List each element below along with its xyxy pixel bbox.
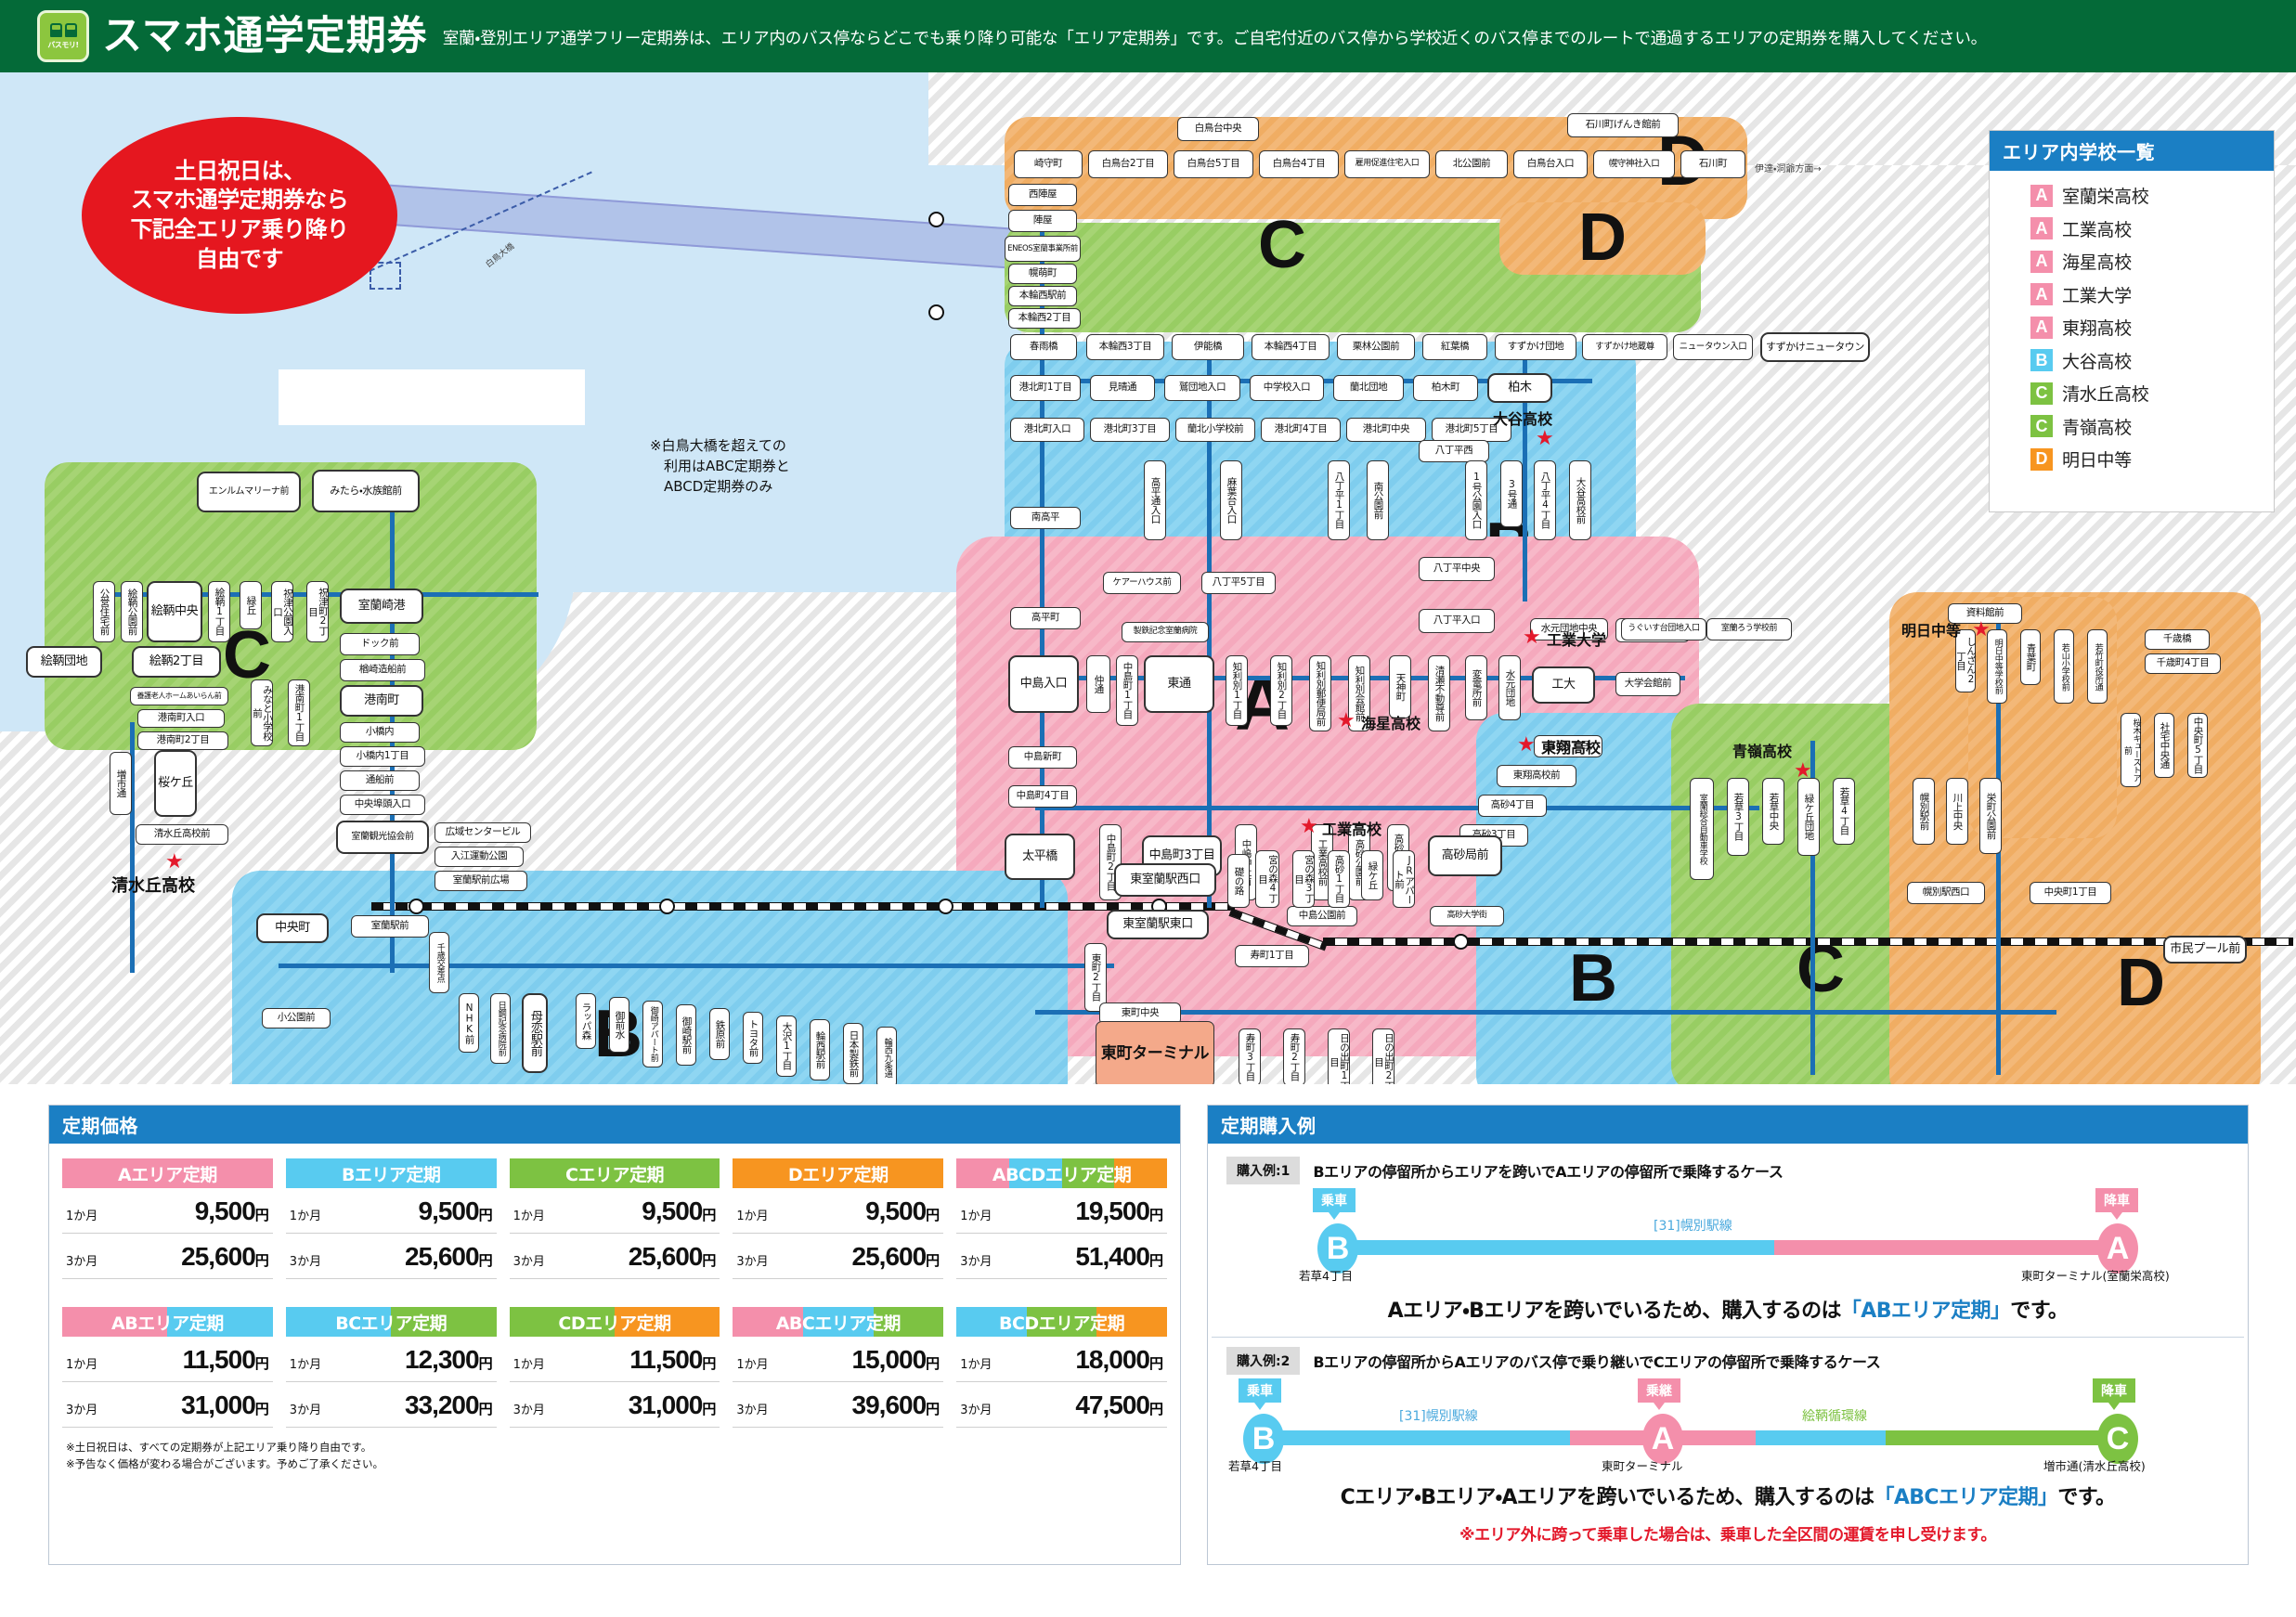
stop-mr-7[interactable]: 社宅中央通 (2154, 713, 2174, 778)
stop-bs-24[interactable]: 日本製鉄前 (843, 1023, 863, 1084)
stop-b3-4[interactable]: 高平町 (1010, 607, 1081, 629)
stop-b2-6[interactable]: 1号公園入口 (1465, 460, 1487, 540)
stop-c-4[interactable]: 栗林公園前 (1337, 334, 1415, 360)
stop-bs-25[interactable]: 輪西九条通 (876, 1027, 897, 1084)
stop-am-17[interactable]: 中島公園前 (1287, 906, 1357, 926)
star-icon-shimizugaoka: ★ (165, 852, 184, 873)
stop-a3-8[interactable]: 高砂1丁目 (1328, 850, 1350, 908)
price-amount: 9,500 (419, 1197, 479, 1225)
stop-b2-3[interactable]: 八丁平1丁目 (1328, 460, 1350, 540)
stop-am-18[interactable]: 高砂大学街 (1430, 906, 1504, 926)
stop-mr-12[interactable]: 中央町1丁目 (2030, 882, 2111, 904)
school-list-item-3[interactable]: A 工業大学 (2030, 282, 2274, 307)
price-tag-abcd: ABCDエリア定期 (956, 1158, 1167, 1188)
stop-c-7[interactable]: すずかけ地蔵尊 (1582, 334, 1667, 360)
term-label: 1か月 (66, 1206, 97, 1223)
school-list-item-0[interactable]: A 室蘭栄高校 (2030, 183, 2274, 208)
stop-mr-15[interactable]: 若草3丁目 (1727, 778, 1749, 856)
stop-a1-9[interactable]: 清瀬不動尊前 (1428, 655, 1450, 731)
price-card-abc: ABCエリア定期 1か月 15,000円 3か月 39,600円 (733, 1307, 943, 1428)
price-tag-label-abc: ABCエリア定期 (776, 1310, 901, 1335)
stop-cw-29[interactable]: 入江運動公園 (435, 847, 524, 867)
term-label: 1か月 (290, 1206, 321, 1223)
stop-cw-3[interactable]: 絵鞆公園前 (121, 581, 143, 642)
stop-a1-13[interactable]: 大学会館前 (1615, 672, 1680, 696)
stop-c-1[interactable]: 本輪西3丁目 (1086, 334, 1164, 360)
stop-d-6[interactable]: 白鳥台入口 (1513, 150, 1588, 178)
stop-bs-9[interactable]: 母恋駅前 (522, 993, 548, 1073)
header-description: 室蘭・登別エリア通学フリー定期券は、エリア内のバス停ならどこでも乗り降り可能な「… (443, 24, 1987, 48)
stop-mr-20[interactable]: 川上中央 (1946, 778, 1968, 845)
price-tag-ab: ABエリア定期 (62, 1307, 273, 1337)
star-icon-kogyodai: ★ (1523, 627, 1541, 648)
stop-a3-12[interactable]: 寿町3丁目 (1239, 1028, 1261, 1084)
rail-station-dot-4 (659, 899, 675, 914)
example-1-title: Bエリアの停留所からエリアを跨いでAエリアの停留所で乗降するケース (1313, 1159, 1783, 1182)
price-amount: 31,000 (181, 1391, 255, 1419)
price-tag-c: Cエリア定期 (510, 1158, 720, 1188)
stop-cw-11[interactable]: 楢崎造船前 (340, 659, 425, 681)
example-2-diagram: B A C 乗車 乗継 降車 [31]幌別駅線 絵鞆循環線 若草4丁目 東町ター… (1226, 1378, 2229, 1479)
example-2-concl-pre: Cエリア・Bエリア・Aエリアを跨いでいるため、購入するのは (1341, 1486, 1874, 1509)
stop-d-7[interactable]: 幌守神社入口 (1593, 150, 1675, 178)
stop-b2-4[interactable]: 南公園前 (1367, 460, 1389, 540)
stop-cw-13[interactable]: 小橋内 (340, 722, 420, 743)
stop-b3-1[interactable]: 八丁平5丁目 (1201, 572, 1276, 594)
stop-bs-3[interactable]: 小公園前 (262, 1008, 331, 1028)
stop-cl-1[interactable]: 陣屋 (1008, 210, 1077, 232)
stop-a3-2[interactable]: 東室蘭駅東口 (1107, 910, 1209, 939)
school-name-5: 大谷高校 (2062, 348, 2132, 373)
rail-station-dot-5 (409, 899, 424, 914)
stop-bs-18[interactable]: 御崎アパート前 (642, 1001, 663, 1067)
school-name-7: 青嶺高校 (2062, 414, 2132, 439)
stop-a1-2[interactable]: 中島町1丁目 (1116, 655, 1138, 726)
stop-a3-5[interactable]: 礎の路 (1227, 854, 1250, 908)
stop-bs-0[interactable]: 中央町 (256, 913, 329, 943)
stop-cl-2[interactable]: ENEOS室蘭事業所前 (1005, 236, 1081, 262)
stop-d-3[interactable]: 白鳥台4丁目 (1259, 150, 1339, 178)
stop-d-4[interactable]: 雇用促進住宅入口 (1344, 150, 1430, 178)
yen-label: 円 (926, 1252, 940, 1269)
price-tag-label-d: Dエリア定期 (788, 1161, 889, 1186)
stop-b2-7[interactable]: 3号通 (1500, 460, 1523, 527)
example-1: 購入例:1 Bエリアの停留所からエリアを跨いでAエリアの停留所で乗降するケース … (1208, 1144, 2248, 1324)
school-list-item-7[interactable]: C 青嶺高校 (2030, 414, 2274, 439)
stop-cw-26[interactable]: 桜ケ丘 (154, 750, 197, 817)
stop-cw-0[interactable]: エンルムマリーナ前 (197, 472, 301, 512)
stop-mr-3[interactable]: 青葉町 (2020, 629, 2041, 685)
zone-badge-a: A (2030, 283, 2053, 305)
star-icon-tosho: ★ (1517, 735, 1536, 756)
stop-bs-2[interactable]: 千歳交差点 (429, 932, 449, 993)
route-segment-b2-2 (1756, 1430, 1886, 1445)
stop-cw-22[interactable]: 港南町2丁目 (137, 731, 228, 750)
stop-am-9[interactable]: 太平橋 (1005, 834, 1075, 880)
school-list-item-1[interactable]: A 工業高校 (2030, 216, 2274, 241)
price-card-bcd: BCDエリア定期 1か月 18,000円 3か月 47,500円 (956, 1307, 1167, 1428)
price-1month-c: 1か月 9,500円 (510, 1188, 720, 1234)
price-tag-label-abcd: ABCDエリア定期 (992, 1161, 1131, 1186)
stop-a3-11[interactable]: 寿町1丁目 (1235, 945, 1309, 967)
stop-c-3[interactable]: 本輪西4丁目 (1252, 334, 1330, 360)
stop-mr-19[interactable]: 幌別駅前 (1913, 778, 1935, 845)
example-1-concl-post: です。 (2010, 1300, 2068, 1323)
stop-bs-23[interactable]: 輪西駅前 (810, 1019, 830, 1080)
term-label: 3か月 (66, 1400, 97, 1417)
stop-bs-22[interactable]: 大沢1丁目 (776, 1015, 797, 1077)
stop-a1-1[interactable]: 仲通 (1086, 655, 1110, 713)
price-3month-cd: 3か月 31,000円 (510, 1382, 720, 1428)
stop-d-8[interactable]: 石川町 (1680, 150, 1745, 178)
stop-bs-17[interactable]: 御前水 (609, 997, 629, 1053)
stop-c2-1[interactable]: 見晴通 (1090, 375, 1155, 401)
stop-a3-3[interactable]: 東町2丁目 (1084, 943, 1107, 1012)
stop-a1-8[interactable]: 天神町 (1389, 655, 1411, 718)
school-marker-kogyo: 工業高校 (1322, 817, 1381, 839)
school-name-4: 東翔高校 (2062, 315, 2132, 340)
stop-b2-9[interactable]: 大谷高校前 (1569, 460, 1591, 540)
stop-b3-2[interactable]: 八丁平中央 (1419, 557, 1495, 581)
stop-c2-0[interactable]: 港北町1丁目 (1010, 375, 1081, 401)
price-tag-label-ab: ABエリア定期 (111, 1310, 224, 1335)
example-2-concl-post: です。 (2057, 1486, 2115, 1509)
price-card-abcd: ABCDエリア定期 1か月 19,500円 3か月 51,400円 (956, 1158, 1167, 1279)
stop-cw-19[interactable]: 絵鞆2丁目 (132, 646, 221, 678)
area-map: 白鳥大橋 土日祝日は、 スマホ通学定期券なら 下記全エリア乗り降り 自由です ※… (0, 72, 2296, 1084)
price-amount: 31,000 (629, 1391, 703, 1419)
zone-letter-d-east: D (2117, 950, 2165, 1016)
stop-am-3[interactable]: 室蘭ろう学校前 (1706, 618, 1792, 640)
price-amount: 25,600 (181, 1242, 255, 1271)
example-panel-title: 定期購入例 (1208, 1106, 2248, 1144)
stop-b3-0[interactable]: ケアーハウス前 (1103, 572, 1181, 594)
price-amount: 25,600 (405, 1242, 479, 1271)
route-label-2a: [31]幌別駅線 (1399, 1406, 1478, 1425)
stop-cw-9[interactable]: 室蘭崎港 (340, 589, 423, 624)
price-3month-bc: 3か月 33,200円 (286, 1382, 497, 1428)
stop-a1-4[interactable]: 知利別1丁目 (1226, 655, 1248, 726)
stop-a1-3[interactable]: 東通 (1144, 655, 1214, 713)
term-label: 1か月 (513, 1206, 545, 1223)
stop-d-0[interactable]: 崎守町 (1014, 150, 1083, 178)
yen-label: 円 (926, 1401, 940, 1417)
school-list: A 室蘭栄高校 A 工業高校 A 海星高校 A 工業大学 A 東翔高校 (1990, 171, 2274, 489)
price-card-ab: ABエリア定期 1か月 11,500円 3か月 31,000円 (62, 1307, 273, 1428)
stop-c-0[interactable]: 春雨橋 (1010, 334, 1077, 360)
stop-cw-6[interactable]: 緑丘 (240, 581, 262, 629)
mid-stop-2: 東町ターミナル (1602, 1456, 1683, 1474)
example-1-concl-pre: Aエリア・Bエリアを跨いでいるため、購入するのは (1388, 1300, 1841, 1323)
stop-cw-25[interactable]: 増市通 (110, 752, 132, 815)
stop-d-5[interactable]: 北公園前 (1435, 150, 1508, 178)
stop-bs-16[interactable]: ラッパ森 (576, 993, 596, 1049)
stop-am-5[interactable]: 東翔高校前 (1497, 765, 1576, 787)
stop-cl-3[interactable]: 幌萌町 (1008, 264, 1077, 284)
stop-mr-9[interactable]: 千歳橋 (2145, 629, 2210, 650)
yen-label: 円 (255, 1252, 269, 1269)
price-tag-label-a: Aエリア定期 (118, 1161, 217, 1186)
stop-mr-8[interactable]: 中央町5丁目 (2187, 713, 2208, 778)
stop-mr-18[interactable]: 若草4丁目 (1833, 778, 1855, 845)
school-name-1: 工業高校 (2062, 216, 2132, 241)
term-label: 1か月 (960, 1206, 992, 1223)
stop-cw-7[interactable]: 祝津公園入口 (271, 581, 293, 642)
stop-a3-7[interactable]: 宮の森3丁目 (1292, 850, 1315, 908)
stop-d2-1[interactable]: すずかけニュータウン (1760, 332, 1870, 362)
stop-d-1[interactable]: 白鳥台2丁目 (1088, 150, 1168, 178)
school-marker-seirei: 青嶺高校 (1732, 739, 1792, 761)
term-label: 3か月 (66, 1251, 97, 1269)
stop-cw-30[interactable]: 室蘭駅前広場 (435, 871, 527, 891)
stop-b1-0[interactable]: 港北町入口 (1010, 418, 1084, 442)
stop-a3-10[interactable]: JRアパート前 (1393, 850, 1415, 908)
stop-b2-2[interactable]: 麻葉台入口 (1220, 460, 1242, 540)
school-name-3: 工業大学 (2062, 282, 2132, 307)
stop-a3-15[interactable]: 日の出町2丁目 (1372, 1028, 1394, 1084)
stop-cw-12[interactable]: 港南町 (340, 685, 423, 717)
stop-mr-13[interactable]: 市民プール前 (2163, 936, 2247, 964)
stop-mr-6[interactable]: 桜木キューストア前 (2121, 713, 2141, 787)
stop-cw-8[interactable]: 祝津町2丁目 (306, 581, 329, 642)
stop-mr-4[interactable]: 若山小学校前 (2054, 629, 2074, 704)
price-tag-label-cd: CDエリア定期 (558, 1310, 670, 1335)
stop-a1-11[interactable]: 水元団地 (1498, 655, 1521, 720)
price-card-a: Aエリア定期 1か月 9,500円 3か月 25,600円 (62, 1158, 273, 1279)
transfer-tip-2: 乗継 (1638, 1378, 1680, 1403)
stop-cw-24[interactable]: 港南町1丁目 (288, 679, 310, 746)
stop-cw-1[interactable]: みたら・水族館前 (312, 470, 420, 512)
price-note-1: ※予告なく価格が変わる場合がございます。予めご了承ください。 (66, 1455, 1163, 1472)
site-header: バスモリ! スマホ通学定期券 室蘭・登別エリア通学フリー定期券は、エリア内のバス… (0, 0, 2296, 72)
price-tag-a: Aエリア定期 (62, 1158, 273, 1188)
term-label: 3か月 (513, 1251, 545, 1269)
stop-cw-20[interactable]: 養護老人ホームあいらん前 (130, 687, 228, 705)
stop-b2-5[interactable]: 八丁平西 (1419, 440, 1489, 462)
stop-d-branch-1[interactable]: 石川町げんき館前 (1567, 113, 1679, 137)
zone-badge-a: A (2030, 217, 2053, 239)
stop-mr-16[interactable]: 若草中央 (1762, 778, 1784, 845)
stop-a3-9[interactable]: 緑ケ丘 (1361, 850, 1383, 900)
term-label: 3か月 (960, 1251, 992, 1269)
stop-b1-1[interactable]: 港北町3丁目 (1090, 418, 1170, 442)
price-3month-abc: 3か月 39,600円 (733, 1382, 943, 1428)
example-panel: 定期購入例 購入例:1 Bエリアの停留所からエリアを跨いでAエリアの停留所で乗降… (1207, 1105, 2249, 1565)
zone-badge-a: A (2030, 317, 2053, 339)
stop-am-6[interactable]: 高砂4丁目 (1478, 795, 1547, 817)
stop-mr-11[interactable]: 幌別駅西口 (1907, 882, 1985, 904)
stop-cw-14[interactable]: 小橋内1丁目 (340, 746, 425, 767)
term-label: 3か月 (290, 1251, 321, 1269)
board-tip-2: 乗車 (1239, 1378, 1281, 1403)
yen-label: 円 (1149, 1355, 1163, 1372)
stop-cl-0[interactable]: 西陣屋 (1008, 184, 1077, 206)
price-tag-bcd: BCDエリア定期 (956, 1307, 1167, 1337)
stop-a3-13[interactable]: 寿町2丁目 (1283, 1028, 1305, 1084)
school-name-8: 明日中等 (2062, 446, 2132, 472)
stop-c-6[interactable]: すずかけ団地 (1495, 334, 1576, 360)
stop-cw-28[interactable]: 広域センタービル (435, 822, 531, 843)
bridge-usage-note: ※白鳥大橋を超えての 利用はABC定期券と ABCD定期券のみ (650, 436, 790, 497)
stop-am-2[interactable]: うぐいす台団地入口 (1621, 618, 1706, 640)
stop-cw-23[interactable]: みなと小学校前 (251, 679, 273, 746)
stop-cw-5[interactable]: 絵鞆1丁目 (208, 581, 230, 642)
zone-badge-a: A (2030, 185, 2053, 207)
star-icon-kaisei: ★ (1337, 711, 1356, 731)
stop-cw-27[interactable]: 清水丘高校前 (136, 824, 228, 845)
end-stop-2: 増市通(清水丘高校) (2043, 1456, 2146, 1474)
stop-cl-4[interactable]: 本輪西駅前 (1008, 286, 1077, 306)
price-amount: 47,500 (1075, 1391, 1149, 1419)
yen-label: 円 (255, 1355, 269, 1372)
stop-c2-2[interactable]: 鷲団地入口 (1164, 375, 1240, 401)
stop-am-8[interactable]: 中島新町 (1008, 746, 1077, 769)
stop-higashimachi-terminal[interactable]: 東町ターミナル (1096, 1021, 1214, 1084)
stop-cl-5[interactable]: 本輪西2丁目 (1008, 308, 1081, 329)
stop-a3-1[interactable]: 東室蘭駅西口 (1114, 863, 1216, 897)
stop-a1-12[interactable]: 工大 (1532, 666, 1595, 704)
zone-badge-d: D (2030, 448, 2053, 471)
stop-cw-16[interactable]: 中央埠頭入口 (340, 795, 425, 815)
price-amount: 51,400 (1075, 1242, 1149, 1271)
stop-cw-21[interactable]: 港南町入口 (137, 709, 225, 728)
example-2-conclusion: Cエリア・Bエリア・Aエリアを跨いでいるため、購入するのは「ABCエリア定期」で… (1226, 1481, 2229, 1510)
rail-station-dot-1 (938, 899, 953, 914)
stop-bs-19[interactable]: 御崎駅前 (676, 1004, 696, 1066)
price-card-bc: BCエリア定期 1か月 12,300円 3か月 33,200円 (286, 1307, 497, 1428)
stop-a3-14[interactable]: 日の出町1丁目 (1328, 1028, 1350, 1084)
bus-route-cross-3 (1035, 806, 1759, 810)
route-segment-b-2 (1264, 1430, 1570, 1445)
price-tag-label-bc: BCエリア定期 (335, 1310, 447, 1335)
zone-badge-b: B (2030, 349, 2053, 371)
price-tag-label-b: Bエリア定期 (342, 1161, 440, 1186)
stop-cw-17[interactable]: 室蘭観光協会前 (336, 821, 429, 854)
yen-label: 円 (1149, 1252, 1163, 1269)
yen-label: 円 (479, 1355, 493, 1372)
stop-mr-5[interactable]: 若竹町役所通 (2087, 629, 2108, 704)
stop-mr-14[interactable]: 室蘭総合自動車学校 (1690, 778, 1714, 880)
term-label: 1か月 (513, 1354, 545, 1372)
stop-b1-3[interactable]: 港北町4丁目 (1261, 418, 1341, 442)
start-stop-1: 若草4丁目 (1299, 1266, 1353, 1284)
star-icon-asunaka: ★ (1972, 620, 1991, 640)
stop-b2-0[interactable]: 南高平 (1010, 507, 1081, 529)
stop-bs-8[interactable]: 日鋼記念病院前 (490, 993, 511, 1064)
stop-b2-8[interactable]: 八丁平4丁目 (1534, 460, 1556, 540)
stop-mr-10[interactable]: 千歳町4丁目 (2145, 653, 2221, 674)
price-amount: 12,300 (405, 1345, 479, 1374)
stop-am-16[interactable]: 高砂局前 (1428, 835, 1502, 876)
yen-label: 円 (479, 1401, 493, 1417)
stop-am-0[interactable]: 製鉄記念室蘭病院 (1122, 622, 1209, 642)
stop-c-5[interactable]: 紅葉橋 (1422, 334, 1487, 360)
yen-label: 円 (479, 1207, 493, 1223)
stop-c2-4[interactable]: 蘭北団地 (1333, 375, 1404, 401)
price-panel: 定期価格 Aエリア定期 1か月 9,500円 3か月 25,600円 (48, 1105, 1181, 1565)
price-tag-label-c: Cエリア定期 (565, 1161, 664, 1186)
zone-badge-a: A (2030, 251, 2053, 273)
stop-b1-2[interactable]: 蘭北小学校前 (1175, 418, 1255, 442)
stop-a3-6[interactable]: 宮の森4丁目 (1255, 850, 1279, 908)
term-label: 1か月 (66, 1354, 97, 1372)
yen-label: 円 (702, 1401, 716, 1417)
stop-cw-18[interactable]: 絵鞆団地 (26, 646, 102, 678)
price-card-cd: CDエリア定期 1か月 11,500円 3か月 31,000円 (510, 1307, 720, 1428)
stop-mr-21[interactable]: 栄町公園前 (1979, 778, 2002, 854)
stop-c2-3[interactable]: 中学校入口 (1250, 375, 1324, 401)
stop-b1-4[interactable]: 港北町中央 (1346, 418, 1426, 442)
term-label: 1か月 (290, 1354, 321, 1372)
yen-label: 円 (255, 1207, 269, 1223)
stop-d-branch-0[interactable]: 白鳥台中央 (1177, 117, 1259, 141)
alight-tip-2: 降車 (2093, 1378, 2135, 1403)
term-label: 3か月 (513, 1400, 545, 1417)
stop-bs-21[interactable]: トヨタ前 (743, 1012, 763, 1064)
price-tag-abc: ABCエリア定期 (733, 1307, 943, 1337)
stop-c2-6[interactable]: 柏木 (1487, 373, 1552, 403)
yen-label: 円 (479, 1252, 493, 1269)
school-list-item-5[interactable]: B 大谷高校 (2030, 348, 2274, 373)
example-2-head: 購入例:2 Bエリアの停留所からAエリアのバス停で乗り継いでCエリアの停留所で乗… (1226, 1347, 2229, 1375)
stop-c-2[interactable]: 伊能橋 (1172, 334, 1244, 360)
route-segment-b-1 (1338, 1240, 1774, 1255)
school-name-6: 清水丘高校 (2062, 381, 2149, 406)
price-card-d: Dエリア定期 1か月 9,500円 3か月 25,600円 (733, 1158, 943, 1279)
stop-a1-10[interactable]: 変電所前 (1465, 655, 1487, 720)
stop-a1-0[interactable]: 中島入口 (1008, 655, 1079, 713)
school-list-item-8[interactable]: D 明日中等 (2030, 446, 2274, 472)
rail-station-dot-3 (1453, 934, 1469, 950)
direction-note: 伊達・洞爺方面→ (1755, 161, 1822, 175)
stop-a3-0[interactable]: 中島町4丁目 (1008, 785, 1077, 808)
yen-label: 円 (926, 1355, 940, 1372)
stop-d2-0[interactable]: ニュータウン入口 (1673, 334, 1753, 360)
stop-mr-17[interactable]: 緑ケ丘団地 (1797, 778, 1820, 856)
stop-cw-2[interactable]: 公営住宅前 (93, 581, 115, 642)
school-marker-tosho: 東翔高校 (1541, 735, 1601, 757)
stop-bs-7[interactable]: NHK前 (459, 993, 479, 1053)
example-2: 購入例:2 Bエリアの停留所からAエリアのバス停で乗り継いでCエリアの停留所で乗… (1208, 1338, 2248, 1545)
term-label: 1か月 (960, 1354, 992, 1372)
start-stop-2: 若草4丁目 (1228, 1456, 1282, 1474)
school-marker-shimizugaoka: 清水丘高校 (111, 873, 195, 897)
stop-bs-1[interactable]: 室蘭駅前 (351, 915, 429, 938)
price-row-1: Aエリア定期 1か月 9,500円 3か月 25,600円 Bエリア定期 1か月 (49, 1144, 1180, 1279)
stop-cw-15[interactable]: 通船前 (340, 770, 420, 791)
route-label-2b: 絵鞆循環線 (1802, 1406, 1867, 1425)
school-list-item-2[interactable]: A 海星高校 (2030, 249, 2274, 274)
school-list-item-6[interactable]: C 清水丘高校 (2030, 381, 2274, 406)
zone-letter-b-east: B (1569, 945, 1617, 1012)
stop-cw-10[interactable]: ドック前 (340, 633, 420, 655)
stop-c2-5[interactable]: 柏木町 (1413, 375, 1478, 401)
stop-b3-3[interactable]: 八丁平入口 (1419, 609, 1495, 633)
stop-b2-1[interactable]: 高平通入口 (1144, 460, 1166, 540)
zone-letter-c-top: C (1258, 212, 1306, 278)
stop-a1-5[interactable]: 知利別2丁目 (1270, 655, 1292, 726)
school-list-item-4[interactable]: A 東翔高校 (2030, 315, 2274, 340)
stop-bs-20[interactable]: 鉄原前 (709, 1008, 730, 1060)
price-1month-bc: 1か月 12,300円 (286, 1337, 497, 1382)
stop-cw-4[interactable]: 絵鞆中央 (147, 581, 202, 642)
stop-a1-6[interactable]: 知利別郵便局前 (1309, 655, 1331, 731)
price-1month-bcd: 1か月 18,000円 (956, 1337, 1167, 1382)
busmori-logo-icon: バスモリ! (37, 10, 89, 62)
stop-d-2[interactable]: 白鳥台5丁目 (1174, 150, 1253, 178)
land-mask (279, 369, 585, 425)
price-notes: ※土日祝日は、すべての定期券が上記エリア乗り降り自由です。 ※予告なく価格が変わ… (49, 1428, 1180, 1473)
